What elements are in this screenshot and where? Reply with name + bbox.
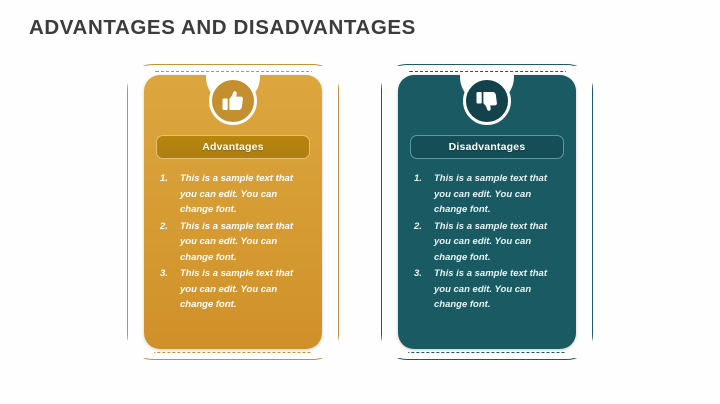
list-item[interactable]: 1. This is a sample text that you can ed…: [414, 171, 564, 218]
disadvantages-column[interactable]: Disadvantages 1. This is a sample text t…: [381, 58, 593, 364]
comparison-columns: Advantages 1. This is a sample text that…: [0, 58, 720, 368]
list-item-number: 2.: [160, 219, 180, 235]
list-item-number: 2.: [414, 219, 434, 235]
advantages-column[interactable]: Advantages 1. This is a sample text that…: [127, 58, 339, 364]
list-item-number: 1.: [414, 171, 434, 187]
list-item-text: This is a sample text that you can edit.…: [434, 266, 564, 313]
list-item-number: 1.: [160, 171, 180, 187]
list-item[interactable]: 3. This is a sample text that you can ed…: [160, 266, 310, 313]
thumbs-up-icon: [209, 77, 257, 125]
disadvantages-bullet-list: 1. This is a sample text that you can ed…: [414, 171, 564, 314]
list-item[interactable]: 1. This is a sample text that you can ed…: [160, 171, 310, 218]
disadvantages-header-label: Disadvantages: [449, 141, 526, 153]
slide-canvas: ADVANTAGES AND DISADVANTAGES Advantages: [0, 0, 720, 404]
list-item-text: This is a sample text that you can edit.…: [180, 266, 310, 313]
list-item-number: 3.: [160, 266, 180, 282]
page-title: ADVANTAGES AND DISADVANTAGES: [29, 16, 416, 40]
list-item-number: 3.: [414, 266, 434, 282]
advantages-card[interactable]: Advantages 1. This is a sample text that…: [144, 75, 322, 349]
advantages-header-label: Advantages: [202, 141, 264, 153]
list-item-text: This is a sample text that you can edit.…: [434, 219, 564, 266]
list-item[interactable]: 2. This is a sample text that you can ed…: [160, 219, 310, 266]
disadvantages-card[interactable]: Disadvantages 1. This is a sample text t…: [398, 75, 576, 349]
list-item-text: This is a sample text that you can edit.…: [180, 171, 310, 218]
advantages-bullet-list: 1. This is a sample text that you can ed…: [160, 171, 310, 314]
list-item[interactable]: 3. This is a sample text that you can ed…: [414, 266, 564, 313]
list-item[interactable]: 2. This is a sample text that you can ed…: [414, 219, 564, 266]
thumbs-down-icon: [463, 77, 511, 125]
list-item-text: This is a sample text that you can edit.…: [180, 219, 310, 266]
advantages-header-pill[interactable]: Advantages: [156, 135, 310, 159]
disadvantages-header-pill[interactable]: Disadvantages: [410, 135, 564, 159]
list-item-text: This is a sample text that you can edit.…: [434, 171, 564, 218]
